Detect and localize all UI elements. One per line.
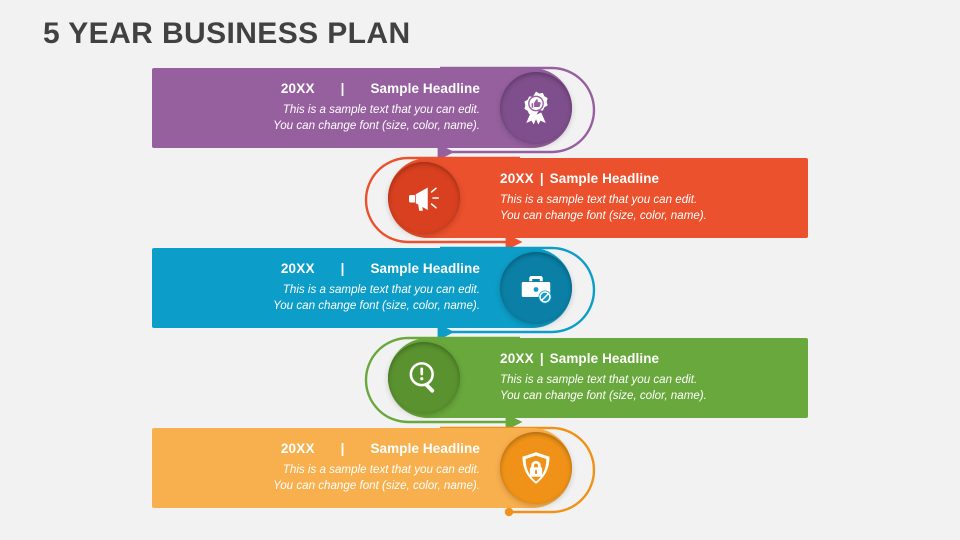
timeline-row-5[interactable]: 20XX|Sample Headline This is a sample te… bbox=[152, 428, 572, 508]
row-body-line1: This is a sample text that you can edit. bbox=[152, 102, 480, 118]
row-icon-badge[interactable] bbox=[388, 342, 460, 414]
timeline-row-4[interactable]: 20XX|Sample Headline This is a sample te… bbox=[388, 338, 808, 418]
arc-row5-endpoint bbox=[505, 508, 513, 516]
row-separator: | bbox=[534, 172, 550, 187]
row-text: 20XX|Sample Headline This is a sample te… bbox=[500, 338, 794, 418]
page-title: 5 YEAR BUSINESS PLAN bbox=[43, 17, 411, 51]
row-year: 20XX bbox=[500, 351, 534, 366]
row-headline: 20XX|Sample Headline bbox=[152, 442, 480, 457]
row-text: 20XX|Sample Headline This is a sample te… bbox=[152, 248, 480, 328]
row-text: 20XX|Sample Headline This is a sample te… bbox=[500, 158, 794, 238]
row-year: 20XX bbox=[281, 441, 315, 456]
row-icon-badge[interactable] bbox=[500, 252, 572, 324]
row-separator: | bbox=[315, 262, 371, 277]
row-year: 20XX bbox=[500, 171, 534, 186]
row-body-line2: You can change font (size, color, name). bbox=[500, 388, 794, 404]
row-year: 20XX bbox=[281, 261, 315, 276]
row-body-line2: You can change font (size, color, name). bbox=[152, 298, 480, 314]
briefcase-blocked-icon bbox=[518, 270, 554, 306]
row-headline: 20XX|Sample Headline bbox=[152, 82, 480, 97]
row-headline: 20XX|Sample Headline bbox=[500, 352, 794, 367]
row-separator: | bbox=[315, 442, 371, 457]
row-headline-text: Sample Headline bbox=[370, 441, 480, 456]
timeline-row-3[interactable]: 20XX|Sample Headline This is a sample te… bbox=[152, 248, 572, 328]
shield-lock-icon bbox=[518, 450, 554, 486]
row-body-line1: This is a sample text that you can edit. bbox=[152, 462, 480, 478]
row-headline-text: Sample Headline bbox=[550, 171, 660, 186]
award-ribbon-thumbsup-icon bbox=[518, 90, 554, 126]
row-headline-text: Sample Headline bbox=[370, 81, 480, 96]
row-icon-badge[interactable] bbox=[500, 432, 572, 504]
row-text: 20XX|Sample Headline This is a sample te… bbox=[152, 428, 480, 508]
timeline-row-2[interactable]: 20XX|Sample Headline This is a sample te… bbox=[388, 158, 808, 238]
row-year: 20XX bbox=[281, 81, 315, 96]
magnifier-alert-icon bbox=[406, 360, 442, 396]
row-separator: | bbox=[534, 352, 550, 367]
row-body-line1: This is a sample text that you can edit. bbox=[500, 372, 794, 388]
row-icon-badge[interactable] bbox=[388, 162, 460, 234]
row-headline-text: Sample Headline bbox=[370, 261, 480, 276]
row-headline: 20XX|Sample Headline bbox=[152, 262, 480, 277]
slide-canvas: 5 YEAR BUSINESS PLAN bbox=[0, 0, 960, 540]
row-icon-badge[interactable] bbox=[500, 72, 572, 144]
timeline-row-1[interactable]: 20XX|Sample Headline This is a sample te… bbox=[152, 68, 572, 148]
row-body-line2: You can change font (size, color, name). bbox=[152, 118, 480, 134]
megaphone-icon bbox=[406, 180, 442, 216]
row-body-line1: This is a sample text that you can edit. bbox=[152, 282, 480, 298]
row-headline: 20XX|Sample Headline bbox=[500, 172, 794, 187]
row-text: 20XX|Sample Headline This is a sample te… bbox=[152, 68, 480, 148]
row-body-line2: You can change font (size, color, name). bbox=[500, 208, 794, 224]
row-separator: | bbox=[315, 82, 371, 97]
row-body-line2: You can change font (size, color, name). bbox=[152, 478, 480, 494]
row-headline-text: Sample Headline bbox=[550, 351, 660, 366]
row-body-line1: This is a sample text that you can edit. bbox=[500, 192, 794, 208]
